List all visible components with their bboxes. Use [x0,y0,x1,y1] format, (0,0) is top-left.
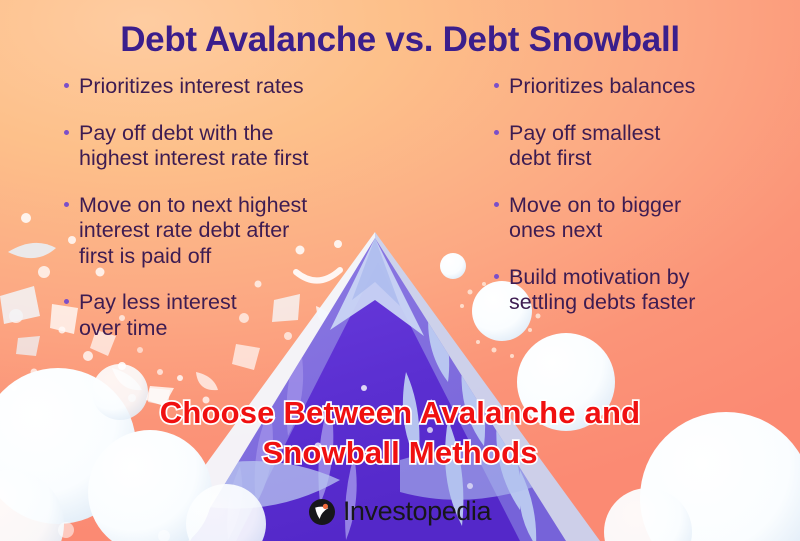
list-item: Prioritizes interest rates [62,74,392,100]
bullet-column-avalanche: Prioritizes interest rates Pay off debt … [62,74,392,362]
list-item: Move on to next highest interest rate de… [62,193,392,270]
page-title: Debt Avalanche vs. Debt Snowball [0,20,800,60]
investopedia-logo-icon [309,499,335,525]
bullet-column-snowball: Prioritizes balances Pay off smallest de… [492,74,792,337]
list-item: Prioritizes balances [492,74,792,100]
list-item: Pay off debt with the highest interest r… [62,121,392,172]
list-item: Pay off smallest debt first [492,121,792,172]
infographic-poster: Debt Avalanche vs. Debt Snowball Priorit… [0,0,800,541]
list-item: Build motivation by settling debts faste… [492,265,792,316]
cta-headline: Choose Between Avalanche and Snowball Me… [0,393,800,473]
list-item: Move on to bigger ones next [492,193,792,244]
brand-logo: Investopedia [0,498,800,525]
list-item: Pay less interest over time [62,290,392,341]
brand-name: Investopedia [343,498,491,525]
